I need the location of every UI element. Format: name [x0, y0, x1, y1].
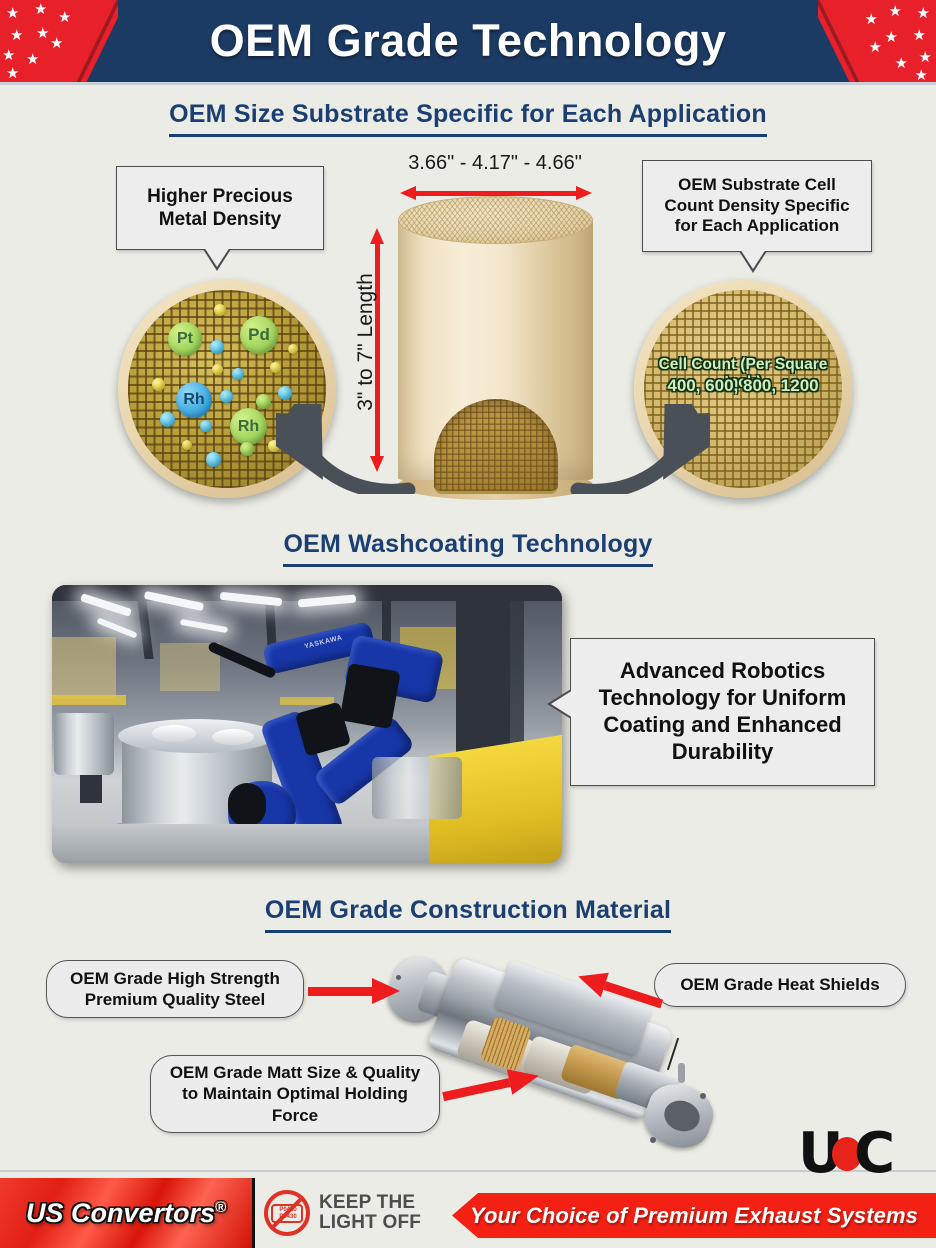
section-heading-construction: OEM Grade Construction Material: [0, 896, 936, 933]
callout-text: OEM Grade Heat Shields: [680, 974, 879, 995]
callout-higher-precious-metal-density: Higher Precious Metal Density: [116, 166, 324, 250]
cell-count-values: 400, 600, 800, 1200: [644, 376, 842, 396]
particle-dot: [220, 390, 233, 403]
footer-divider: [0, 1170, 936, 1172]
particle-dot: [232, 368, 244, 380]
us-convertors-logo: US Convertors®: [0, 1178, 255, 1248]
particle-dot: [152, 378, 165, 391]
callout-text: OEM Grade High Strength Premium Quality …: [59, 968, 291, 1011]
callout-text: Advanced Robotics Technology for Uniform…: [581, 658, 864, 765]
particle-dot: [210, 340, 224, 354]
particle-dot: [182, 440, 192, 450]
callout-high-strength-steel: OEM Grade High Strength Premium Quality …: [46, 960, 304, 1018]
curved-arrow-left: [276, 404, 416, 494]
length-label: 3" to 7" Length: [354, 262, 378, 422]
particle-pd: Pd: [240, 316, 278, 354]
curved-arrow-right: [570, 404, 710, 494]
header-divider: [0, 82, 936, 85]
callout-oem-substrate-cell-count: OEM Substrate Cell Count Density Specifi…: [642, 160, 872, 252]
keep-the-light-off-badge: P0420 P0430 KEEP THE LIGHT OFF: [262, 1186, 442, 1240]
logo-letter-c: C: [854, 1128, 895, 1180]
callout-text: OEM Substrate Cell Count Density Specifi…: [653, 175, 861, 237]
page-header: ★ ★ ★ ★ ★ ★ ★ ★ ★ ★ ★ ★ ★ ★ ★ ★ ★ ★ OEM …: [0, 0, 936, 82]
particle-pt: Pt: [168, 322, 202, 356]
washcoating-robot-photo: YASKAWA: [52, 585, 562, 863]
particle-dot: [214, 304, 226, 316]
particle-dot: [278, 386, 292, 400]
section-heading-substrate: OEM Size Substrate Specific for Each App…: [0, 100, 936, 137]
particle-dot: [256, 394, 271, 409]
particle-dot: [206, 452, 221, 467]
brand-name: US Convertors: [26, 1198, 215, 1228]
section-heading-washcoating: OEM Washcoating Technology: [0, 530, 936, 567]
tagline-text: Your Choice of Premium Exhaust Systems: [470, 1203, 918, 1229]
callout-text: Higher Precious Metal Density: [127, 185, 313, 231]
registered-mark: ®: [215, 1199, 226, 1216]
tagline-banner: Your Choice of Premium Exhaust Systems: [452, 1193, 936, 1238]
page-title: OEM Grade Technology: [0, 0, 936, 82]
particle-dot: [288, 344, 298, 354]
usc-monogram-logo: U C: [798, 1128, 918, 1180]
diameter-label: 3.66" - 4.17" - 4.66": [330, 152, 660, 175]
callout-matt-size-quality: OEM Grade Matt Size & Quality to Maintai…: [150, 1055, 440, 1133]
particle-rh-green: Rh: [230, 408, 267, 445]
keep-light-off-text: KEEP THE LIGHT OFF: [319, 1193, 421, 1233]
callout-advanced-robotics: Advanced Robotics Technology for Uniform…: [570, 638, 875, 786]
callout-text: OEM Grade Matt Size & Quality to Maintai…: [163, 1062, 427, 1126]
red-arrow-steel: [308, 978, 400, 1004]
particle-dot: [200, 420, 212, 432]
substrate-cell-face: [398, 196, 593, 244]
infographic-page: ★ ★ ★ ★ ★ ★ ★ ★ ★ ★ ★ ★ ★ ★ ★ ★ ★ ★ OEM …: [0, 0, 936, 1248]
particle-rh-blue: Rh: [176, 382, 212, 418]
callout-heat-shields: OEM Grade Heat Shields: [654, 963, 906, 1007]
substrate-cylinder-illustration: [398, 196, 593, 496]
particle-dot: [160, 412, 175, 427]
particle-dot: [270, 362, 281, 373]
no-check-engine-icon: P0420 P0430: [262, 1188, 312, 1238]
particle-dot: [240, 442, 254, 456]
particle-dot: [212, 364, 223, 375]
